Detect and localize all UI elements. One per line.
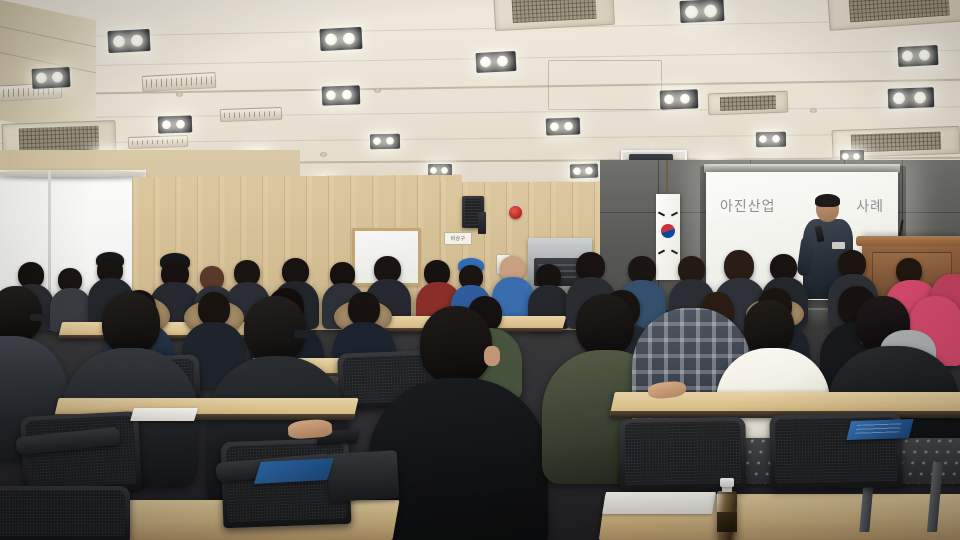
ceiling-downlight-icon [888, 87, 935, 109]
bag [327, 450, 399, 502]
sprinkler-icon [374, 88, 381, 93]
ceiling-downlight-icon [756, 132, 786, 148]
ceiling-downlight-icon [319, 27, 362, 51]
ceiling-downlight-icon [570, 164, 598, 179]
korean-flag-icon [656, 194, 680, 280]
paper-sheet [602, 492, 716, 514]
slide-title-right: 사례 [856, 196, 884, 216]
hvac-vent-icon [220, 107, 282, 122]
hvac-vent-icon [708, 91, 789, 116]
fire-alarm-bell-icon [509, 206, 522, 219]
seminar-room-photo: 비상구 아진산업 사례 개선 활동 개선 [0, 0, 960, 540]
ceiling-downlight-icon [370, 134, 400, 150]
blue-booklet [254, 458, 334, 484]
sprinkler-icon [320, 152, 327, 157]
ceiling-downlight-icon [32, 67, 71, 89]
ceiling-downlight-icon [660, 89, 699, 109]
chair[interactable] [0, 486, 130, 540]
sprinkler-icon [810, 108, 817, 113]
ceiling-downlight-icon [158, 115, 193, 133]
ceiling-downlight-icon [107, 29, 150, 53]
eyeglasses-icon [294, 330, 316, 338]
speaker-bracket [478, 212, 486, 234]
sprinkler-icon [176, 92, 183, 97]
ceiling-downlight-icon [679, 0, 724, 23]
ceiling-downlight-icon [476, 51, 517, 73]
ceiling-downlight-icon [546, 117, 581, 135]
wall-sign: 비상구 [444, 232, 472, 245]
ceiling-downlight-icon [898, 45, 939, 67]
eyeglasses-icon [30, 314, 50, 321]
blue-booklet [846, 419, 913, 440]
paper-sheet [130, 408, 198, 421]
water-bottle [716, 478, 738, 540]
hvac-vent-icon [128, 135, 188, 149]
ceiling-downlight-icon [322, 85, 361, 105]
slide-title-left: 아진산업 [720, 196, 776, 216]
